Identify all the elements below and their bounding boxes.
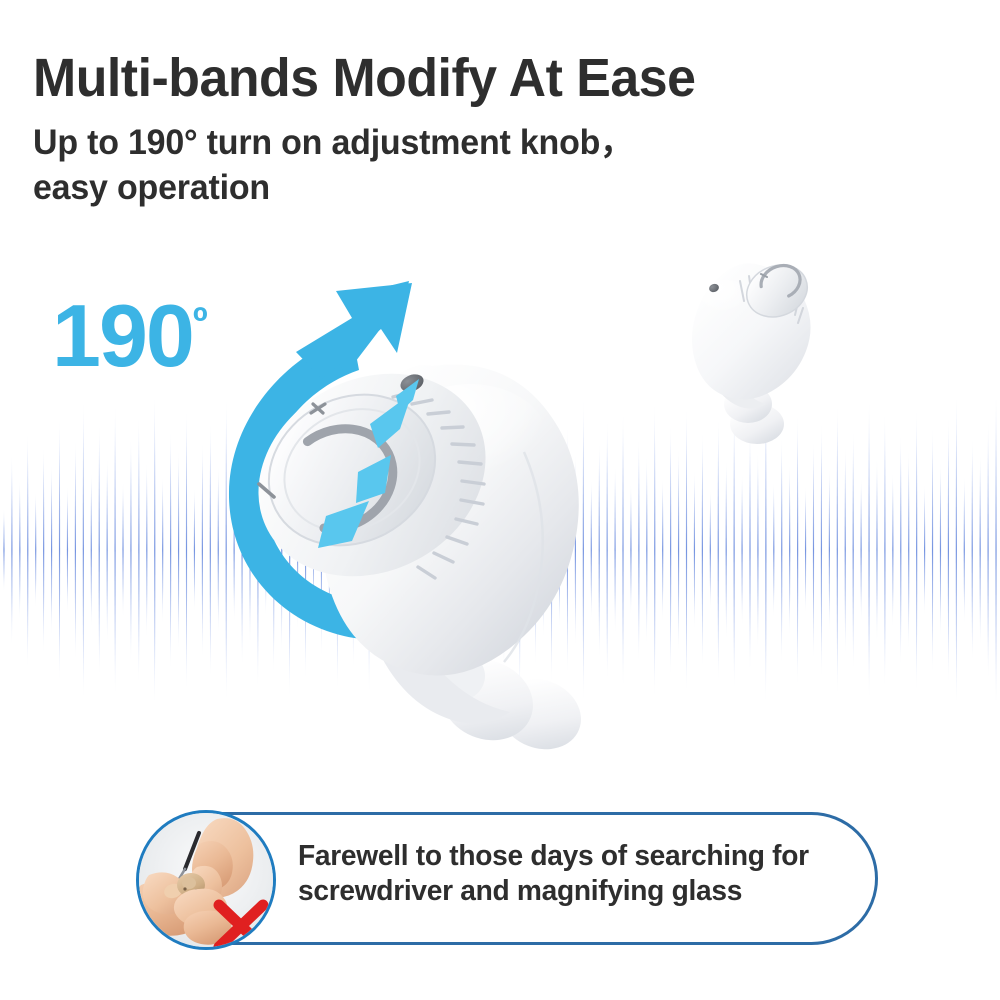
waveform-bar bbox=[567, 426, 568, 674]
waveform-bar bbox=[884, 412, 885, 688]
waveform-bar bbox=[273, 426, 274, 674]
waveform-bar bbox=[829, 468, 830, 632]
waveform-bar bbox=[464, 482, 465, 618]
waveform-bar bbox=[202, 442, 203, 658]
waveform-bar bbox=[440, 422, 441, 678]
waveform-bar bbox=[630, 484, 631, 616]
waveform-bar bbox=[400, 414, 401, 686]
waveform-bar bbox=[503, 430, 504, 670]
waveform-bar bbox=[218, 466, 219, 634]
waveform-bar bbox=[35, 492, 36, 608]
waveform-bar bbox=[226, 400, 227, 700]
waveform-bar bbox=[448, 446, 449, 654]
rotation-degree-value: 190 bbox=[52, 286, 193, 385]
waveform-bar bbox=[99, 424, 100, 676]
waveform-bar bbox=[662, 478, 663, 622]
waveform-bar bbox=[749, 428, 750, 672]
waveform-bar bbox=[178, 450, 179, 650]
secondary-adjustment-knob[interactable] bbox=[739, 256, 815, 326]
waveform-bar bbox=[686, 406, 687, 694]
waveform-bar bbox=[805, 486, 806, 614]
waveform-bar bbox=[91, 472, 92, 628]
callout-text: Farewell to those days of searching for … bbox=[298, 839, 851, 909]
waveform-bar bbox=[345, 480, 346, 620]
waveform-bar bbox=[297, 470, 298, 630]
waveform-bar bbox=[876, 458, 877, 642]
waveform-bar bbox=[67, 486, 68, 614]
secondary-ridges bbox=[740, 274, 803, 323]
waveform-bar bbox=[694, 470, 695, 630]
main-mic-port-icon bbox=[398, 371, 426, 395]
waveform-bar bbox=[170, 430, 171, 670]
waveform-bar bbox=[19, 480, 20, 620]
waveform-bar bbox=[289, 402, 290, 698]
waveform-bar bbox=[972, 438, 973, 662]
waveform-bar bbox=[138, 416, 139, 684]
waveform-bar bbox=[59, 418, 60, 682]
waveform-bar bbox=[908, 450, 909, 650]
waveform-bar bbox=[924, 484, 925, 616]
waveform-bar bbox=[234, 478, 235, 622]
degree-symbol: º bbox=[193, 299, 206, 345]
waveform-bar bbox=[361, 452, 362, 648]
waveform-bar bbox=[51, 464, 52, 636]
waveform-bar bbox=[845, 446, 846, 654]
secondary-mic-port-icon bbox=[708, 283, 720, 294]
waveform-bar bbox=[988, 420, 989, 680]
waveform-bar bbox=[321, 444, 322, 656]
waveform-bar bbox=[353, 432, 354, 668]
waveform-bar bbox=[599, 442, 600, 658]
waveform-bar bbox=[670, 424, 671, 676]
waveform-bar bbox=[789, 464, 790, 636]
waveform-bar bbox=[313, 490, 314, 610]
callout-photo bbox=[136, 810, 276, 950]
waveform-bar bbox=[861, 478, 862, 622]
waveform-bar bbox=[940, 462, 941, 638]
waveform-bar bbox=[821, 422, 822, 678]
waveform-bar bbox=[781, 436, 782, 664]
waveform-bar bbox=[551, 416, 552, 684]
waveform-bar bbox=[130, 438, 131, 662]
waveform-bar bbox=[853, 430, 854, 670]
waveform-bar bbox=[932, 426, 933, 674]
waveform-bar bbox=[122, 482, 123, 618]
waveform-bar bbox=[194, 488, 195, 612]
waveform-bar bbox=[495, 476, 496, 624]
waveform-bar bbox=[527, 488, 528, 612]
waveform-bar bbox=[43, 446, 44, 654]
waveform-bar bbox=[638, 438, 639, 662]
waveform-bar bbox=[249, 456, 250, 644]
waveform-bar bbox=[543, 462, 544, 638]
waveform-bar bbox=[741, 474, 742, 626]
waveform-bar bbox=[305, 420, 306, 680]
waveform-bar bbox=[702, 432, 703, 668]
waveform-bar bbox=[162, 476, 163, 624]
waveform-bar bbox=[964, 476, 965, 624]
waveform-bar bbox=[559, 472, 560, 628]
waveform-bar bbox=[591, 480, 592, 620]
waveform-bar bbox=[765, 400, 766, 700]
waveform-bar bbox=[797, 414, 798, 686]
waveform-bar bbox=[329, 460, 330, 640]
page-subtitle: Up to 190° turn on adjustment knob， easy… bbox=[33, 120, 634, 210]
waveform-bar bbox=[511, 450, 512, 650]
waveform-bar bbox=[456, 400, 457, 700]
product-feature-banner: Multi-bands Modify At Ease Up to 190° tu… bbox=[0, 0, 1000, 1000]
waveform-bar bbox=[519, 404, 520, 696]
waveform-bar bbox=[995, 400, 996, 700]
waveform-bar bbox=[376, 474, 377, 626]
waveform-bar bbox=[535, 434, 536, 666]
waveform-bar bbox=[432, 468, 433, 632]
waveform-bar bbox=[980, 454, 981, 646]
waveform-bar bbox=[718, 418, 719, 682]
waveform-bar bbox=[384, 428, 385, 672]
waveform-bar bbox=[868, 400, 869, 700]
waveform-bar bbox=[614, 466, 615, 634]
waveform-bar bbox=[83, 400, 84, 700]
waveform-bar bbox=[368, 406, 369, 694]
waveform-bar bbox=[241, 434, 242, 666]
waveform-bar bbox=[114, 404, 115, 696]
waveform-bar bbox=[575, 454, 576, 646]
waveform-bar bbox=[956, 400, 957, 700]
waveform-bar bbox=[265, 484, 266, 616]
waveform-bar bbox=[773, 482, 774, 618]
waveform-bar bbox=[488, 408, 489, 692]
waveform-bar bbox=[710, 490, 711, 610]
waveform-bar bbox=[734, 410, 735, 690]
callout-text-line-2: screwdriver and magnifying glass bbox=[298, 874, 851, 909]
audio-waveform-graphic bbox=[0, 400, 1000, 700]
waveform-bar bbox=[210, 422, 211, 678]
waveform-bar bbox=[107, 458, 108, 642]
page-title: Multi-bands Modify At Ease bbox=[33, 46, 695, 110]
waveform-bar bbox=[837, 404, 838, 696]
waveform-bar bbox=[726, 460, 727, 640]
waveform-bar bbox=[583, 400, 584, 700]
waveform-bar bbox=[654, 402, 655, 698]
waveform-bar bbox=[678, 448, 679, 652]
page-subtitle-line-1: Up to 190° turn on adjustment knob， bbox=[33, 120, 634, 165]
rotation-degree-label: 190º bbox=[52, 292, 206, 380]
waveform-bar bbox=[948, 416, 949, 684]
waveform-bar bbox=[392, 464, 393, 636]
page-subtitle-line-2: easy operation bbox=[33, 165, 634, 210]
waveform-bar bbox=[11, 454, 12, 646]
waveform-bar bbox=[607, 420, 608, 680]
waveform-bar bbox=[900, 434, 901, 666]
waveform-bar bbox=[75, 440, 76, 660]
waveform-bar bbox=[27, 432, 28, 668]
waveform-bar bbox=[3, 508, 4, 592]
waveform-bar bbox=[337, 410, 338, 690]
waveform-bar bbox=[257, 412, 258, 688]
callout-text-line-1: Farewell to those days of searching for bbox=[298, 839, 851, 874]
secondary-body bbox=[692, 263, 811, 399]
waveform-bar bbox=[757, 452, 758, 648]
waveform-bar bbox=[186, 408, 187, 692]
waveform-bar bbox=[480, 458, 481, 642]
waveform-bar bbox=[472, 440, 473, 660]
waveform-bar bbox=[281, 448, 282, 652]
waveform-bar bbox=[916, 408, 917, 692]
waveform-bar bbox=[813, 440, 814, 660]
waveform-bar bbox=[154, 400, 155, 700]
waveform-bar bbox=[416, 436, 417, 664]
waveform-bar bbox=[408, 486, 409, 614]
waveform-bar bbox=[646, 456, 647, 644]
waveform-bar bbox=[892, 472, 893, 628]
waveform-bar bbox=[424, 400, 425, 700]
hand-holding-hearing-aid-with-screwdriver-photo bbox=[139, 813, 276, 950]
waveform-bar bbox=[622, 412, 623, 688]
waveform-bar bbox=[146, 462, 147, 638]
